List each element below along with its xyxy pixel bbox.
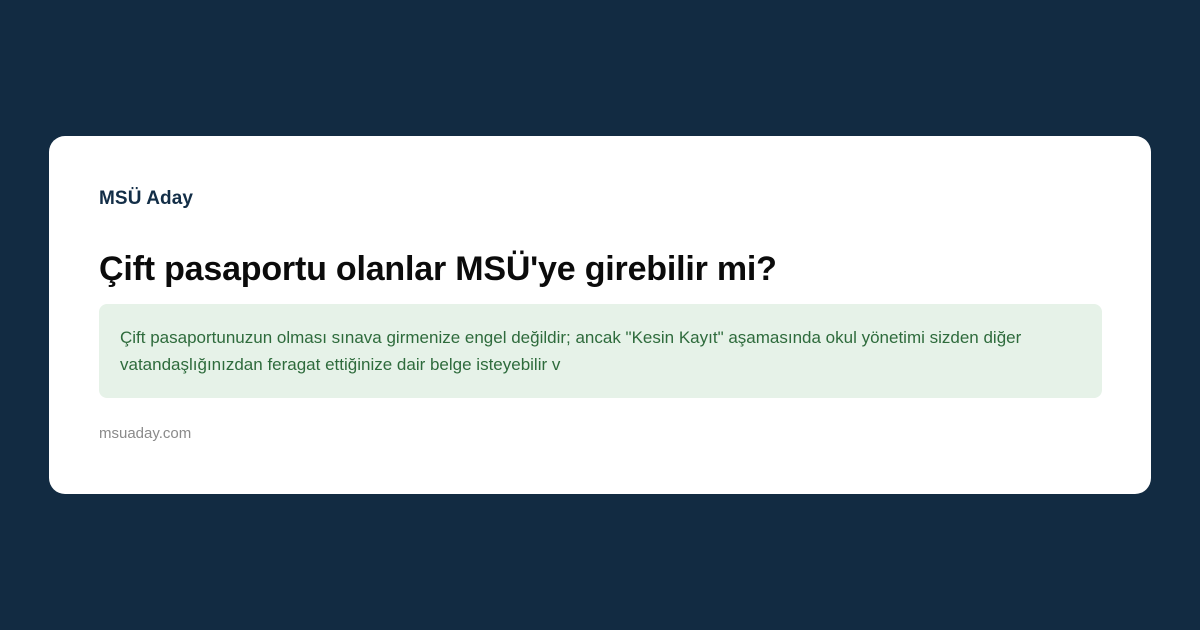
- site-brand-label: MSÜ Aday: [99, 188, 193, 210]
- content-card: MSÜ Aday Çift pasaportu olanlar MSÜ'ye g…: [49, 136, 1151, 494]
- source-domain-link[interactable]: msuaday.com: [99, 424, 191, 444]
- page-title: Çift pasaportu olanlar MSÜ'ye girebilir …: [99, 248, 777, 290]
- answer-snippet-text: Çift pasaportunuzun olması sınava girmen…: [120, 324, 1080, 378]
- og-image-canvas: MSÜ Aday Çift pasaportu olanlar MSÜ'ye g…: [0, 0, 1200, 630]
- answer-highlight-box: Çift pasaportunuzun olması sınava girmen…: [99, 304, 1102, 398]
- card-content-wrapper: MSÜ Aday Çift pasaportu olanlar MSÜ'ye g…: [99, 136, 1103, 494]
